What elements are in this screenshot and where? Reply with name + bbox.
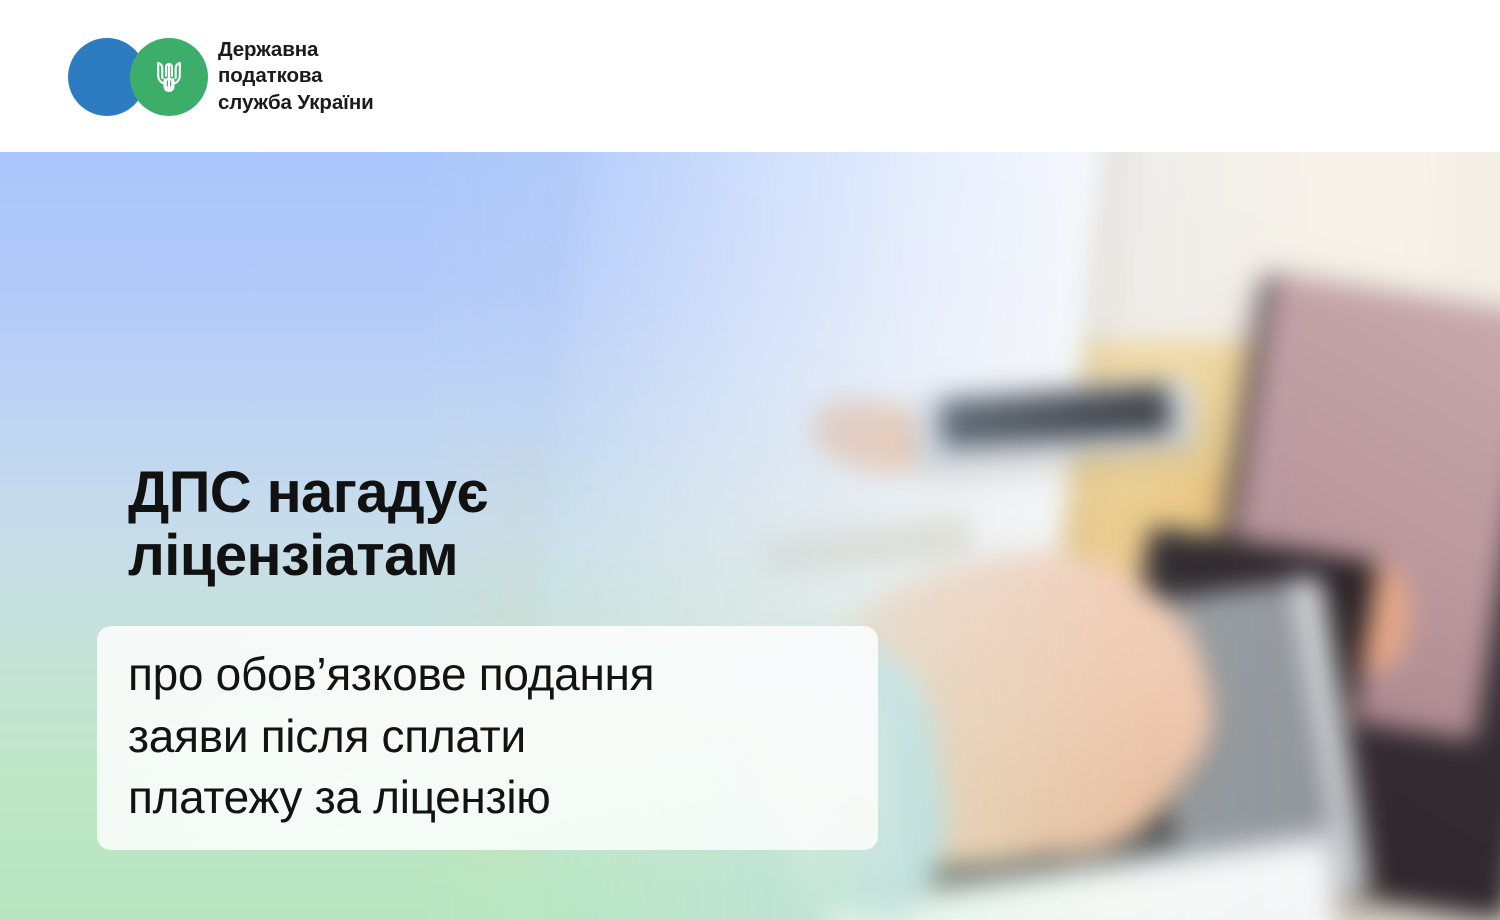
- logo-marks: [68, 38, 208, 116]
- organization-name: Державна податкова служба України: [218, 37, 374, 116]
- organization-logo[interactable]: Державна податкова служба України: [68, 37, 374, 116]
- page-header: Державна податкова служба України: [0, 0, 1500, 152]
- subtitle-text: про обов’язкове подання заяви після спла…: [128, 644, 888, 829]
- page-title: ДПС нагадує ліцензіатам: [128, 462, 488, 587]
- banner: ДПС нагадує ліцензіатам про обов’язкове …: [0, 152, 1500, 920]
- ukraine-trident-icon: [130, 38, 208, 116]
